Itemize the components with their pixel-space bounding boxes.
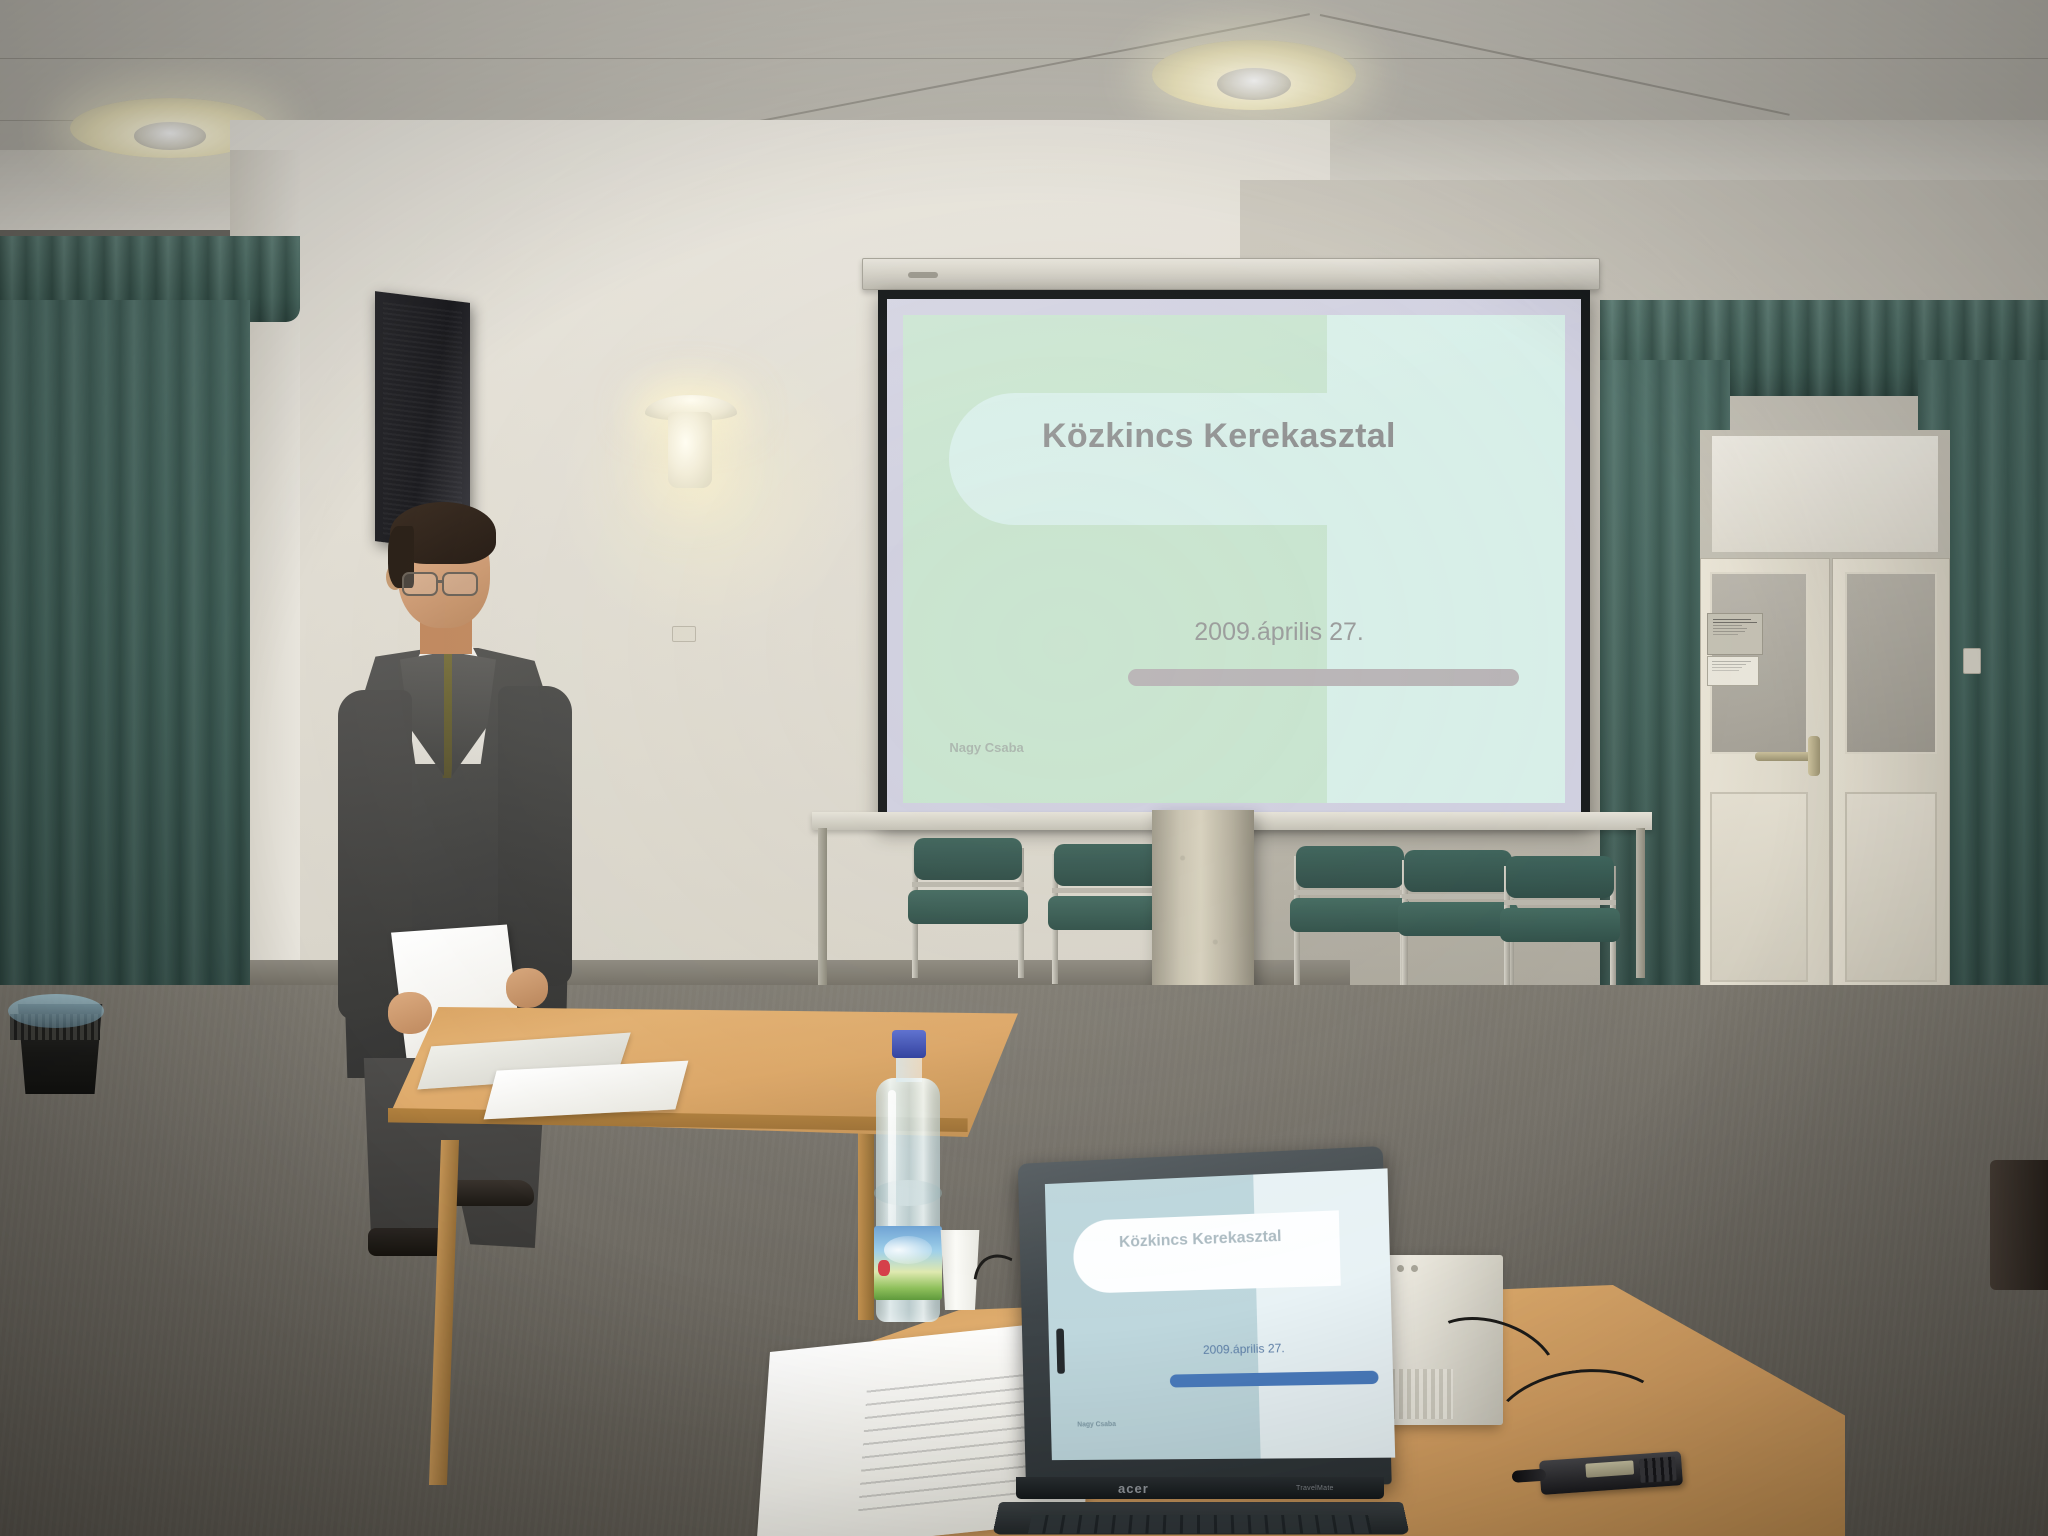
wall-sconce-lamp xyxy=(668,412,712,488)
laptop-slide-title-pill xyxy=(1072,1211,1341,1294)
projection-screen-frame: Közkincs Kerekasztal 2009.április 27. Na… xyxy=(878,290,1590,828)
hand-left xyxy=(388,992,432,1034)
light-bulb xyxy=(134,122,206,150)
slide-title-pill xyxy=(949,393,1465,525)
chair[interactable] xyxy=(1048,844,1168,994)
ceiling-light xyxy=(1152,40,1356,110)
wall-outlet xyxy=(672,626,696,642)
curtain-left[interactable] xyxy=(0,300,250,1020)
slide-right-panel xyxy=(1327,315,1565,803)
projection-screen-housing xyxy=(862,258,1600,290)
laptop-keyboard[interactable] xyxy=(1028,1515,1372,1533)
laptop-slide-date: 2009.április 27. xyxy=(1203,1341,1285,1357)
bottle-neck xyxy=(896,1056,922,1082)
door-transom-window xyxy=(1712,436,1938,552)
chair-back xyxy=(1296,846,1404,888)
hand-right xyxy=(506,968,548,1008)
laptop-brand-logo: acer xyxy=(1118,1481,1149,1496)
chair-seat xyxy=(908,890,1028,924)
chair-rail xyxy=(1294,890,1406,895)
chair-rail xyxy=(1402,894,1514,899)
chair-rail xyxy=(1504,900,1616,905)
screen-pull-nub[interactable] xyxy=(908,272,938,278)
chair-rail xyxy=(1052,888,1164,893)
door-notice-upper xyxy=(1707,613,1763,655)
laptop-display: Közkincs Kerekasztal 2009.április 27. Na… xyxy=(1045,1168,1395,1460)
projector-indicator xyxy=(1411,1265,1418,1272)
eyeglasses-bridge xyxy=(438,580,444,583)
eyeglasses-lens-right xyxy=(442,572,478,596)
chair-seat xyxy=(1290,898,1410,932)
chair-rail xyxy=(912,882,1024,887)
bottle-label xyxy=(874,1226,942,1300)
waste-bin-liner xyxy=(8,994,104,1028)
door-glass-right xyxy=(1845,572,1937,754)
door-panel-left xyxy=(1710,792,1808,982)
phone-keypad[interactable] xyxy=(1639,1456,1677,1482)
door-handle[interactable] xyxy=(1808,736,1820,776)
chair-seat xyxy=(1500,908,1620,942)
chair-back xyxy=(914,838,1022,880)
arm-right xyxy=(498,686,572,986)
slide-accent-bar xyxy=(1128,669,1519,687)
phone-antenna xyxy=(1512,1469,1547,1483)
chair[interactable] xyxy=(1500,856,1620,1006)
laptop-side-port xyxy=(1056,1329,1065,1374)
chair-back xyxy=(1404,850,1512,892)
door-panel-right xyxy=(1845,792,1937,982)
label-graphic xyxy=(878,1260,890,1276)
light-switch[interactable] xyxy=(1963,648,1981,674)
slide-title: Közkincs Kerekasztal xyxy=(1042,417,1558,456)
presenter xyxy=(338,480,628,1240)
laptop-model-label: TravelMate xyxy=(1296,1485,1334,1492)
chair-back xyxy=(1054,844,1162,886)
chair[interactable] xyxy=(908,838,1028,988)
bottle-waist xyxy=(874,1180,942,1206)
table-leg xyxy=(818,828,827,988)
projection-screen-surface: Közkincs Kerekasztal 2009.április 27. Na… xyxy=(887,299,1581,819)
ceiling-grid-line xyxy=(0,58,2048,59)
shoe-right xyxy=(448,1180,534,1206)
bottle-cap[interactable] xyxy=(892,1030,926,1058)
edge-object xyxy=(1990,1160,2048,1290)
laptop-slide: Közkincs Kerekasztal 2009.április 27. Na… xyxy=(1045,1168,1395,1460)
slide-date: 2009.április 27. xyxy=(1194,618,1364,647)
chair-seat xyxy=(1048,896,1168,930)
chair[interactable] xyxy=(1290,846,1410,996)
projected-slide: Közkincs Kerekasztal 2009.április 27. Na… xyxy=(903,315,1565,803)
slide-author: Nagy Csaba xyxy=(949,740,1023,755)
door-notice-lower xyxy=(1707,656,1759,686)
laptop[interactable]: Közkincs Kerekasztal 2009.április 27. Na… xyxy=(1000,1155,1400,1536)
table-leg xyxy=(1636,828,1645,978)
eyeglasses-lens-left xyxy=(402,572,438,596)
water-bottle xyxy=(872,1030,944,1320)
laptop-lid: Közkincs Kerekasztal 2009.április 27. Na… xyxy=(1018,1146,1392,1486)
phone-display xyxy=(1585,1460,1634,1477)
laptop-slide-author: Nagy Csaba xyxy=(1077,1421,1116,1428)
chair-back xyxy=(1506,856,1614,898)
light-bulb xyxy=(1217,68,1290,100)
photo-scene: Közkincs Kerekasztal 2009.április 27. Na… xyxy=(0,0,2048,1536)
